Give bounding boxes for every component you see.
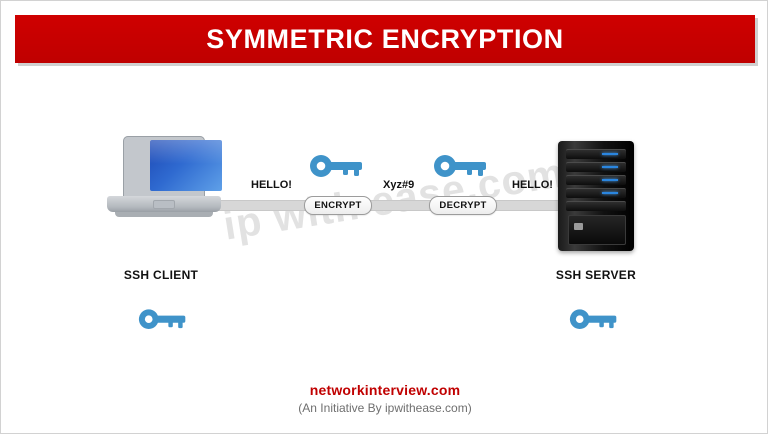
- encrypt-pill: ENCRYPT: [304, 196, 372, 215]
- decrypt-pill: DECRYPT: [429, 196, 497, 215]
- ciphertext-label: Xyz#9: [383, 179, 414, 191]
- server-led: [602, 166, 618, 168]
- server-drive-bay: [574, 223, 583, 230]
- decrypt-key-icon: [433, 153, 489, 188]
- footer: networkinterview.com (An Initiative By i…: [1, 382, 768, 415]
- laptop-screen: [150, 140, 222, 191]
- server-front-panel: [568, 215, 626, 245]
- client-key-icon: [138, 307, 188, 340]
- server-slot: [566, 201, 626, 211]
- laptop-foot: [115, 212, 213, 217]
- encrypt-key-icon: [309, 153, 365, 188]
- diagram-page: SYMMETRIC ENCRYPTION ip with ease.com SS…: [0, 0, 768, 434]
- server-led: [602, 192, 618, 194]
- server-key-icon: [569, 307, 619, 340]
- connection-line: [206, 200, 586, 211]
- footer-tagline: (An Initiative By ipwithease.com): [1, 401, 768, 415]
- server-led: [602, 179, 618, 181]
- laptop-icon: [101, 136, 221, 261]
- server-body: [558, 141, 634, 251]
- server-label: SSH SERVER: [536, 268, 656, 282]
- client-label: SSH CLIENT: [101, 268, 221, 282]
- plaintext-left-label: HELLO!: [251, 179, 292, 191]
- server-led: [602, 153, 618, 155]
- server-icon: [558, 141, 634, 261]
- title-banner: SYMMETRIC ENCRYPTION: [15, 15, 755, 63]
- laptop-lid: [123, 136, 205, 198]
- page-title: SYMMETRIC ENCRYPTION: [15, 15, 755, 63]
- plaintext-right-label: HELLO!: [512, 179, 553, 191]
- footer-site: networkinterview.com: [1, 382, 768, 398]
- laptop-touchpad: [153, 200, 175, 209]
